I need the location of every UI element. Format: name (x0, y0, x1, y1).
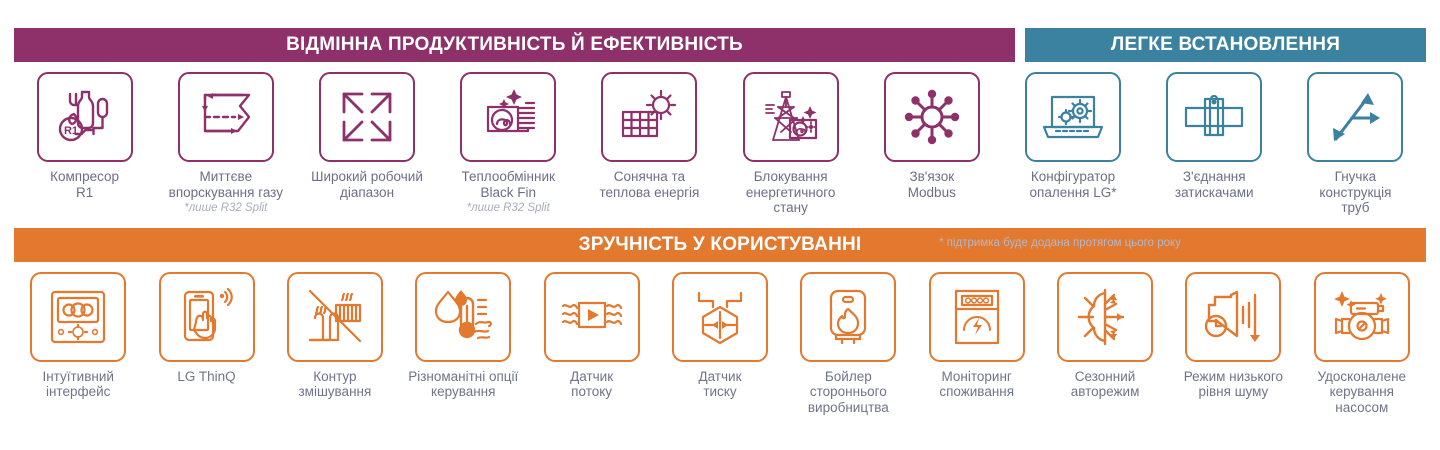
feature-overview-page: ВІДМІННА ПРОДУКТИВНІСТЬ Й ЕФЕКТИВНІСТЬ Л… (0, 28, 1440, 450)
feature-item-advanced-pump-control[interactable]: Удосконалене керування насосом (1298, 262, 1426, 416)
intuitive-interface-icon (49, 288, 107, 346)
icon-box (319, 72, 415, 162)
feature-label: Бойлер стороннього виробництва (808, 369, 889, 416)
feature-item-lg-configurator[interactable]: Конфігуратор опалення LG* (1002, 62, 1143, 218)
feature-label: LG ThinQ (177, 369, 235, 385)
icon-box (1166, 72, 1262, 162)
icon-box (1314, 272, 1410, 362)
icon-box (800, 272, 896, 362)
icon-box (1185, 272, 1281, 362)
header-performance: ВІДМІННА ПРОДУКТИВНІСТЬ Й ЕФЕКТИВНІСТЬ (14, 28, 1015, 62)
pressure-sensor-icon (691, 289, 749, 345)
black-fin-heat-exchanger-icon (478, 87, 538, 147)
modbus-connection-icon (903, 88, 961, 146)
feature-label: Контур змішування (298, 369, 371, 400)
feature-label: Зв'язок Modbus (908, 169, 956, 200)
icon-box (178, 72, 274, 162)
clamp-connection-icon (1183, 92, 1245, 142)
solar-thermal-energy-icon (619, 88, 679, 146)
mixing-circuit-icon (306, 288, 364, 346)
icon-box (544, 272, 640, 362)
feature-item-solar-thermal[interactable]: Сонячна та теплова енергія (579, 62, 720, 218)
icon-box: R1 (37, 72, 133, 162)
flexible-piping-icon (1326, 89, 1384, 145)
control-options-icon (434, 288, 492, 346)
icon-box (287, 272, 383, 362)
feature-row-performance: R1 Компресор R1 (14, 62, 1426, 218)
feature-item-consumption-monitoring[interactable]: Моніторинг споживання (913, 262, 1041, 416)
feature-label: Моніторинг споживання (939, 369, 1014, 400)
feature-label: Різноманітні опції керування (408, 369, 518, 400)
feature-label: Блокування енергетичного стану (746, 169, 836, 216)
feature-note: *лише R32 Split (184, 202, 267, 215)
footnote-support: * підтримка буде додана протягом цього р… (860, 237, 1260, 249)
feature-item-pressure-sensor[interactable]: Датчик тиску (656, 262, 784, 416)
feature-label: Теплообмінник Black Fin (461, 169, 554, 200)
header-installation: ЛЕГКЕ ВСТАНОВЛЕННЯ (1025, 28, 1426, 62)
icon-box (929, 272, 1025, 362)
feature-label: Удосконалене керування насосом (1318, 369, 1407, 416)
svg-text:R1: R1 (64, 125, 78, 137)
wide-operating-range-icon (338, 88, 396, 146)
icon-box (672, 272, 768, 362)
feature-item-compressor-r1[interactable]: R1 Компресор R1 (14, 62, 155, 218)
feature-row-convenience: Інтуїтивний інтерфейс LG ThinQ (14, 262, 1426, 416)
flow-sensor-icon (561, 293, 623, 341)
feature-item-wide-range[interactable]: Широкий робочий діапазон (296, 62, 437, 218)
compressor-r1-icon: R1 (54, 86, 116, 148)
section-headers-top: ВІДМІННА ПРОДУКТИВНІСТЬ Й ЕФЕКТИВНІСТЬ Л… (14, 28, 1426, 62)
feature-item-seasonal-auto-mode[interactable]: Сезонний авторежим (1041, 262, 1169, 416)
feature-label: Компресор R1 (50, 169, 119, 200)
lg-thinq-icon (179, 288, 235, 346)
advanced-pump-control-icon (1331, 289, 1393, 345)
seasonal-auto-mode-icon (1076, 288, 1134, 346)
feature-label: Датчик тиску (698, 369, 741, 400)
feature-item-modbus[interactable]: Зв'язок Modbus (861, 62, 1002, 218)
low-noise-mode-icon (1203, 291, 1263, 343)
feature-label: Сезонний авторежим (1071, 369, 1140, 400)
feature-label: Датчик потоку (570, 369, 613, 400)
feature-item-third-party-boiler[interactable]: Бойлер стороннього виробництва (784, 262, 912, 416)
feature-item-gas-injection[interactable]: Миттєве впорскування газу *лише R32 Spli… (155, 62, 296, 218)
icon-box (1307, 72, 1403, 162)
feature-item-intuitive-interface[interactable]: Інтуїтивний інтерфейс (14, 262, 142, 416)
feature-item-lg-thinq[interactable]: LG ThinQ (142, 262, 270, 416)
icon-box (415, 272, 511, 362)
icon-box (30, 272, 126, 362)
feature-label: Режим низького рівня шуму (1184, 369, 1283, 400)
icon-box (1057, 272, 1153, 362)
energy-state-lock-icon (760, 88, 822, 146)
gas-injection-icon (195, 88, 257, 146)
feature-item-control-options[interactable]: Різноманітні опції керування (399, 262, 527, 416)
feature-label: Миттєве впорскування газу (169, 169, 283, 200)
icon-box (159, 272, 255, 362)
feature-label: Сонячна та теплова енергія (599, 169, 699, 200)
feature-item-mixing-circuit[interactable]: Контур змішування (271, 262, 399, 416)
feature-label: З'єднання затискачами (1175, 169, 1254, 200)
lg-heating-configurator-icon (1042, 91, 1104, 143)
feature-label: Інтуїтивний інтерфейс (42, 369, 113, 400)
feature-item-flow-sensor[interactable]: Датчик потоку (527, 262, 655, 416)
feature-item-energy-lock[interactable]: Блокування енергетичного стану (720, 62, 861, 218)
feature-label: Конфігуратор опалення LG* (1030, 169, 1117, 200)
icon-box (884, 72, 980, 162)
feature-item-clamp-connection[interactable]: З'єднання затискачами (1144, 62, 1285, 218)
consumption-monitoring-icon (953, 288, 1001, 346)
icon-box (601, 72, 697, 162)
feature-item-low-noise-mode[interactable]: Режим низького рівня шуму (1169, 262, 1297, 416)
icon-box (1025, 72, 1121, 162)
feature-item-flexible-piping[interactable]: Гнучка конструкція труб (1285, 62, 1426, 218)
feature-label: Широкий робочий діапазон (311, 169, 423, 200)
feature-item-black-fin[interactable]: Теплообмінник Black Fin *лише R32 Split (438, 62, 579, 218)
icon-box (743, 72, 839, 162)
feature-note: *лише R32 Split (467, 202, 550, 215)
icon-box (460, 72, 556, 162)
feature-label: Гнучка конструкція труб (1319, 169, 1391, 216)
third-party-boiler-icon (825, 288, 871, 346)
